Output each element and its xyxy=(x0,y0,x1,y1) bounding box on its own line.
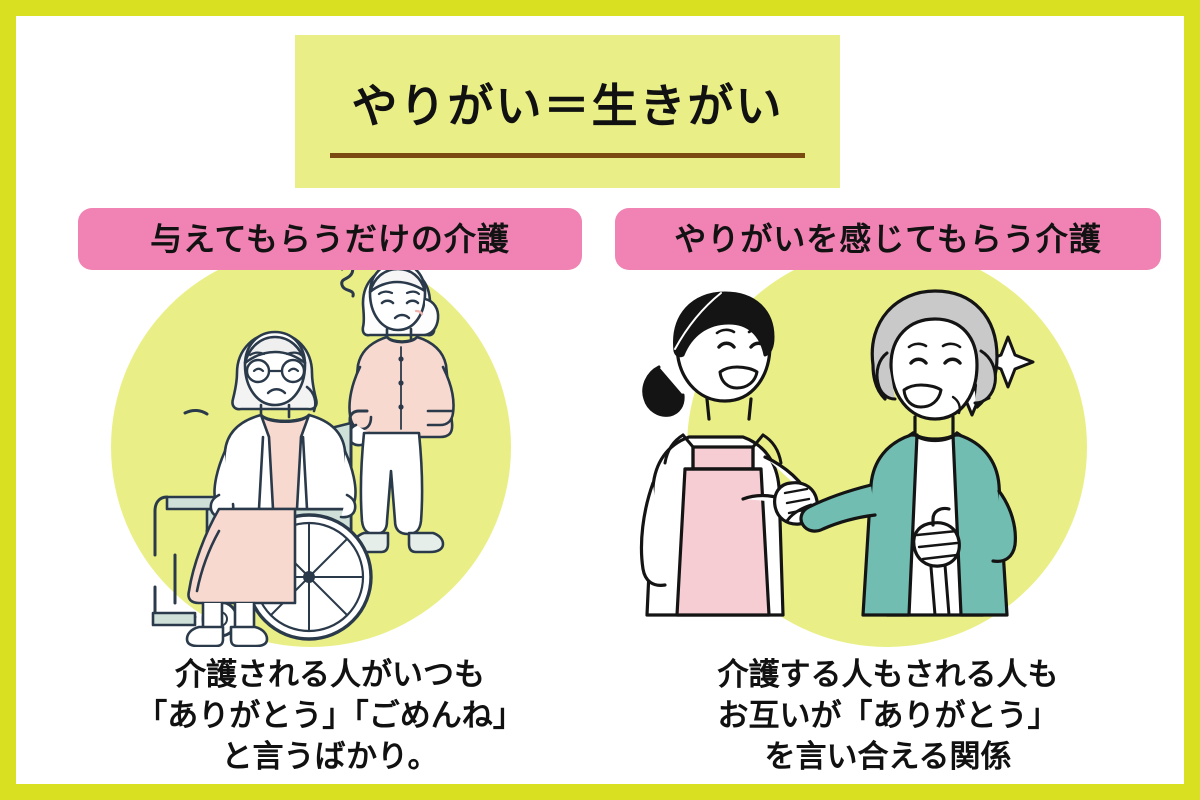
title-underline xyxy=(330,153,805,158)
column-right: やりがいを感じてもらう介護 xyxy=(615,208,1161,778)
header-label-left: 与えてもらうだけの介護 xyxy=(150,223,510,255)
header-pill-right: やりがいを感じてもらう介護 xyxy=(615,208,1161,270)
caption-left-line-1: 介護される人がいつも xyxy=(57,655,603,696)
title-banner: やりがい＝生きがい xyxy=(295,35,840,188)
header-pill-left: 与えてもらうだけの介護 xyxy=(78,208,582,270)
caption-left: 介護される人がいつも 「ありがとう」「ごめんね」 と言うばかり。 xyxy=(57,655,603,778)
illustration-wheelchair-scene xyxy=(57,247,603,647)
caption-left-line-2: 「ありがとう」「ごめんね」 xyxy=(57,696,603,737)
caption-right-line-1: 介護する人もされる人も xyxy=(615,655,1161,696)
caption-right-line-3: を言い合える関係 xyxy=(615,737,1161,778)
page-title: やりがい＝生きがい xyxy=(352,83,784,129)
illustration-area-right xyxy=(615,247,1161,637)
caption-right-line-2: お互いが「ありがとう」 xyxy=(615,696,1161,737)
column-left: 与えてもらうだけの介護 xyxy=(57,208,603,778)
illustration-happy-caregiving-scene xyxy=(615,247,1161,647)
caption-right: 介護する人もされる人も お互いが「ありがとう」 を言い合える関係 xyxy=(615,655,1161,778)
header-label-right: やりがいを感じてもらう介護 xyxy=(674,223,1101,255)
caption-left-line-3: と言うばかり。 xyxy=(57,737,603,778)
illustration-area-left xyxy=(57,247,603,637)
poster-root: やりがい＝生きがい 与えてもらうだけの介護 xyxy=(0,0,1200,800)
